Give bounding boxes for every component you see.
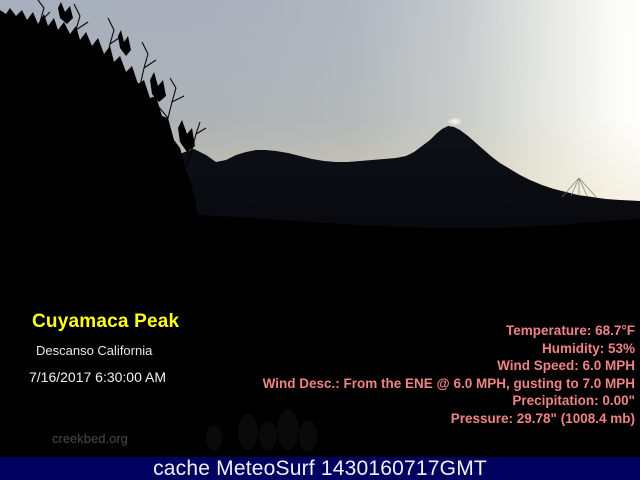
site-watermark: creekbed.org (52, 431, 128, 446)
camera-title: Cuyamaca Peak (32, 311, 179, 333)
status-bar: cache MeteoSurf 1430160717GMT (0, 457, 640, 480)
webcam-screenshot: Cuyamaca Peak Descanso California 7/16/2… (0, 0, 640, 480)
weather-wind-description: Wind Desc.: From the ENE @ 6.0 MPH, gust… (263, 375, 635, 393)
weather-humidity: Humidity: 53% (263, 340, 635, 358)
weather-wind-speed: Wind Speed: 6.0 MPH (263, 357, 635, 375)
weather-pressure: Pressure: 29.78" (1008.4 mb) (263, 410, 635, 428)
camera-location: Descanso California (36, 343, 152, 358)
webcam-photo: Cuyamaca Peak Descanso California 7/16/2… (0, 0, 640, 457)
weather-readout: Temperature: 68.7°F Humidity: 53% Wind S… (263, 322, 635, 427)
weather-precipitation: Precipitation: 0.00" (263, 392, 635, 410)
weather-temperature: Temperature: 68.7°F (263, 322, 635, 340)
camera-timestamp: 7/16/2017 6:30:00 AM (29, 369, 166, 385)
